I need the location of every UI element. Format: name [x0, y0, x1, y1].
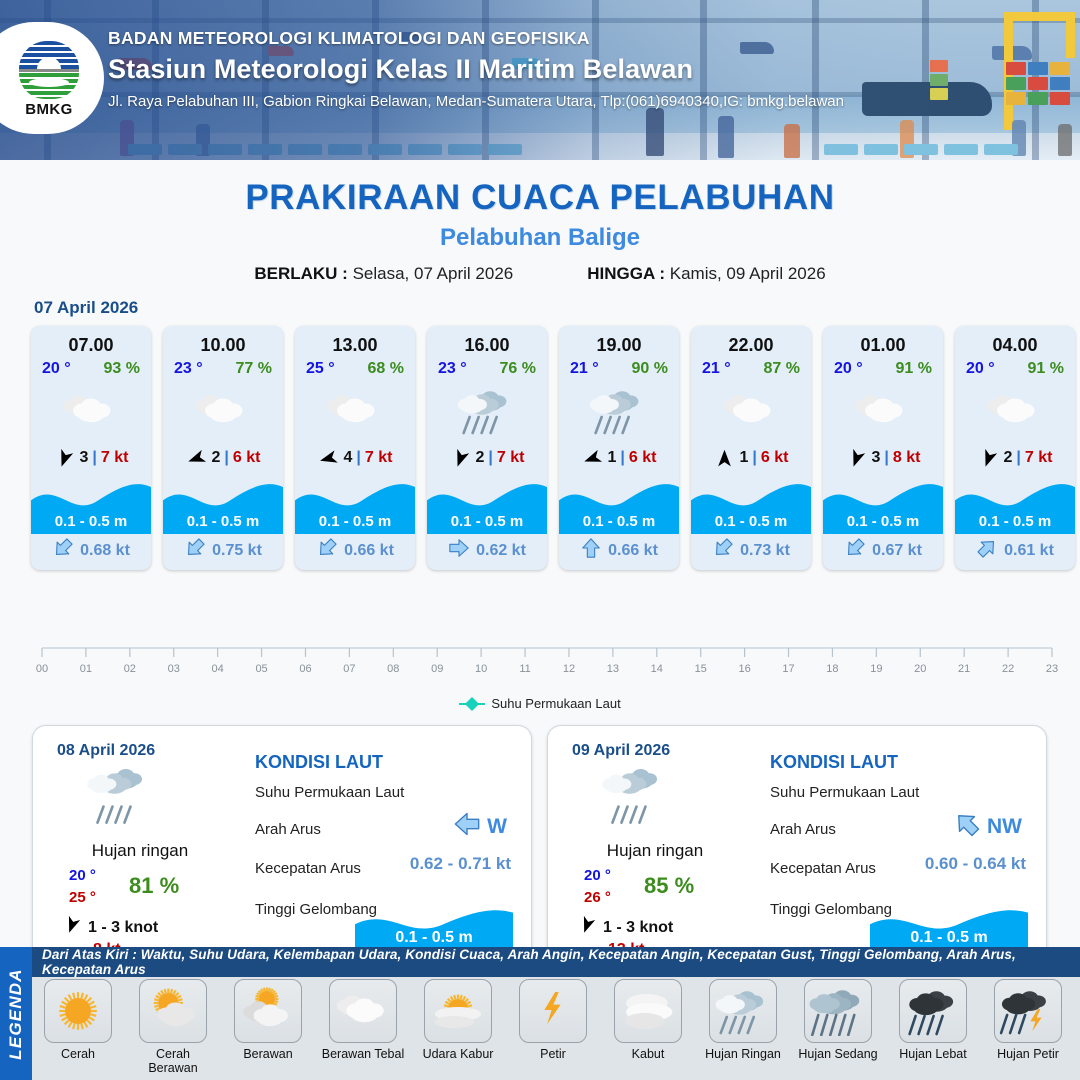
wind-speed-value: 2 — [1004, 449, 1013, 467]
svg-text:21: 21 — [958, 663, 970, 675]
legend-icon-cerah-berawan — [139, 979, 207, 1043]
bmkg-logo-text: BMKG — [25, 101, 72, 118]
svg-text:15: 15 — [695, 663, 707, 675]
legend-item: Hujan Petir — [986, 979, 1070, 1075]
legend-item: Hujan Lebat — [891, 979, 975, 1075]
weather-icon-hujan-ringan — [600, 762, 684, 839]
panel-condition: Hujan ringan — [45, 841, 235, 861]
valid-from: BERLAKU : Selasa, 07 April 2026 — [254, 264, 513, 284]
legend-note: Dari Atas Kiri : Waktu, Suhu Udara, Kele… — [32, 947, 1080, 977]
weather-icon-berawan — [955, 382, 1075, 440]
hourly-date-label: 07 April 2026 — [34, 298, 1080, 318]
weather-icon-berawan — [163, 382, 283, 440]
legend-icon-cerah — [44, 979, 112, 1043]
gust-value: 7 kt — [101, 449, 129, 467]
legend-item: Hujan Ringan — [701, 979, 785, 1075]
legend-item-label: Hujan Ringan — [705, 1047, 781, 1061]
current-speed: 0.62 kt — [476, 542, 526, 560]
panel-wind-range: 1 - 3 knot — [603, 919, 673, 937]
wind-direction-icon — [846, 448, 868, 468]
current-speed: 0.68 kt — [80, 542, 130, 560]
chart-legend: Suhu Permukaan Laut — [0, 696, 1080, 711]
valid-until-value: Kamis, 09 April 2026 — [670, 264, 826, 283]
card-time: 16.00 — [427, 326, 547, 356]
card-temperature: 20 ° — [42, 360, 71, 378]
validity-row: BERLAKU : Selasa, 07 April 2026 HINGGA :… — [0, 264, 1080, 284]
panel-current-direction: NW — [987, 815, 1022, 839]
wind-separator: | — [488, 449, 492, 467]
wave-height: 0.1 - 0.5 m — [691, 513, 811, 530]
current-speed: 0.61 kt — [1004, 542, 1054, 560]
wave-height: 0.1 - 0.5 m — [427, 513, 547, 530]
wind-direction-icon — [714, 448, 736, 468]
legend-icon-petir — [519, 979, 587, 1043]
svg-text:08: 08 — [387, 663, 399, 675]
label-current-speed: Kecepatan Arus — [770, 860, 876, 877]
card-humidity: 76 % — [500, 360, 536, 378]
gust-value: 8 kt — [893, 449, 921, 467]
legend-item-label: Udara Kabur — [423, 1047, 494, 1061]
weather-icon-berawan — [31, 382, 151, 440]
svg-text:09: 09 — [431, 663, 443, 675]
card-temperature: 25 ° — [306, 360, 335, 378]
wind-direction-icon — [318, 448, 340, 468]
panel-current-direction: W — [487, 815, 507, 839]
wind-direction-icon — [63, 916, 81, 939]
card-time: 13.00 — [295, 326, 415, 356]
svg-text:07: 07 — [343, 663, 355, 675]
wind-direction-icon — [450, 448, 472, 468]
gust-value: 7 kt — [497, 449, 525, 467]
port-name: Pelabuhan Balige — [0, 224, 1080, 252]
svg-text:17: 17 — [782, 663, 794, 675]
weather-icon-berawan — [295, 382, 415, 440]
legend-item-label: Hujan Lebat — [899, 1047, 966, 1061]
agency-name: BADAN METEOROLOGI KLIMATOLOGI DAN GEOFIS… — [108, 28, 844, 49]
legend-icon-udara-kabur — [424, 979, 492, 1043]
panel-wave-height: 0.1 - 0.5 m — [870, 929, 1028, 947]
wind-direction-icon — [54, 448, 76, 468]
panel-temp-min: 20 ° — [584, 867, 611, 884]
svg-text:01: 01 — [80, 663, 92, 675]
gust-value: 6 kt — [233, 449, 261, 467]
wind-separator: | — [620, 449, 624, 467]
svg-text:14: 14 — [651, 663, 663, 675]
wind-speed-value: 3 — [80, 449, 89, 467]
legend-icon-hujan-petir — [994, 979, 1062, 1043]
sea-condition-heading: KONDISI LAUT — [770, 752, 898, 773]
wind-speed-value: 1 — [740, 449, 749, 467]
wave-height: 0.1 - 0.5 m — [163, 513, 283, 530]
card-humidity: 93 % — [104, 360, 140, 378]
label-sst: Suhu Permukaan Laut — [255, 784, 404, 801]
wave-height: 0.1 - 0.5 m — [823, 513, 943, 530]
weather-icon-hujan-ringan — [427, 382, 547, 440]
card-time: 22.00 — [691, 326, 811, 356]
label-current-direction: Arah Arus — [770, 821, 836, 838]
card-humidity: 68 % — [368, 360, 404, 378]
wind-direction-icon — [578, 916, 596, 939]
legend-bar: LEGENDA Dari Atas Kiri : Waktu, Suhu Uda… — [0, 947, 1080, 1080]
card-temperature: 20 ° — [966, 360, 995, 378]
wind-separator: | — [752, 449, 756, 467]
current-direction-icon — [453, 810, 481, 843]
svg-text:11: 11 — [519, 663, 530, 675]
svg-text:06: 06 — [299, 663, 311, 675]
sst-chart: 0001020304050607080910111213141516171819… — [30, 622, 1062, 692]
legend-icon-berawan-sun — [234, 979, 302, 1043]
sea-condition-heading: KONDISI LAUT — [255, 752, 383, 773]
hourly-forecast-cards: 07.00 20 ° 93 % 3 | 7 kt 0.1 - 0.5 m — [31, 326, 1080, 570]
current-direction-icon — [976, 537, 998, 564]
panel-humidity: 81 % — [129, 873, 179, 899]
hourly-card: 10.00 23 ° 77 % 2 | 6 kt 0.1 - 0.5 m — [163, 326, 283, 570]
panel-wind-range: 1 - 3 knot — [88, 919, 158, 937]
svg-text:23: 23 — [1046, 663, 1058, 675]
svg-text:05: 05 — [255, 663, 267, 675]
current-speed: 0.75 kt — [212, 542, 262, 560]
svg-text:02: 02 — [124, 663, 136, 675]
valid-until-label: HINGGA : — [587, 264, 665, 283]
wind-direction-icon — [978, 448, 1000, 468]
legend-icon-hujan-ringan — [709, 979, 777, 1043]
legend-icon-hujan-sedang — [804, 979, 872, 1043]
svg-text:16: 16 — [738, 663, 750, 675]
wind-speed-value: 2 — [212, 449, 221, 467]
wind-separator: | — [1016, 449, 1020, 467]
current-direction-icon — [580, 537, 602, 564]
panel-temp-max: 25 ° — [69, 889, 96, 906]
panel-temp-max: 26 ° — [584, 889, 611, 906]
legend-item-label: Hujan Sedang — [798, 1047, 877, 1061]
wind-direction-icon — [582, 448, 604, 468]
current-direction-icon — [184, 537, 206, 564]
wave-height: 0.1 - 0.5 m — [31, 513, 151, 530]
legend-item: Cerah — [36, 979, 120, 1075]
legend-item-label: Petir — [540, 1047, 566, 1061]
panel-current-speed: 0.60 - 0.64 kt — [925, 854, 1026, 874]
legend-item: Cerah Berawan — [131, 979, 215, 1075]
sst-line-marker-icon — [459, 699, 485, 709]
legend-icon-hujan-lebat — [899, 979, 967, 1043]
card-humidity: 91 % — [896, 360, 932, 378]
gust-value: 6 kt — [761, 449, 789, 467]
current-speed: 0.67 kt — [872, 542, 922, 560]
legend-item-list: Cerah Cerah Berawan Berawan Berawan Teba… — [36, 979, 1076, 1075]
card-time: 04.00 — [955, 326, 1075, 356]
panel-current-speed: 0.62 - 0.71 kt — [410, 854, 511, 874]
legend-icon-berawan-tebal — [329, 979, 397, 1043]
legend-item: Kabut — [606, 979, 690, 1075]
card-humidity: 91 % — [1028, 360, 1064, 378]
card-temperature: 20 ° — [834, 360, 863, 378]
legend-item: Berawan Tebal — [321, 979, 405, 1075]
card-time: 10.00 — [163, 326, 283, 356]
wind-speed-value: 1 — [608, 449, 617, 467]
hourly-card: 22.00 21 ° 87 % 1 | 6 kt 0.1 - 0.5 m — [691, 326, 811, 570]
station-name: Stasiun Meteorologi Kelas II Maritim Bel… — [108, 54, 844, 85]
card-time: 01.00 — [823, 326, 943, 356]
wave-height: 0.1 - 0.5 m — [295, 513, 415, 530]
card-temperature: 21 ° — [702, 360, 731, 378]
legend-item-label: Kabut — [632, 1047, 665, 1061]
svg-text:22: 22 — [1002, 663, 1014, 675]
legend-item: Udara Kabur — [416, 979, 500, 1075]
current-speed: 0.66 kt — [344, 542, 394, 560]
label-current-speed: Kecepatan Arus — [255, 860, 361, 877]
wind-separator: | — [92, 449, 96, 467]
gust-value: 6 kt — [629, 449, 657, 467]
hourly-card: 04.00 20 ° 91 % 2 | 7 kt 0.1 - 0.5 m — [955, 326, 1075, 570]
hourly-card: 07.00 20 ° 93 % 3 | 7 kt 0.1 - 0.5 m — [31, 326, 151, 570]
card-temperature: 21 ° — [570, 360, 599, 378]
panel-temp-min: 20 ° — [69, 867, 96, 884]
card-humidity: 90 % — [632, 360, 668, 378]
valid-from-label: BERLAKU : — [254, 264, 348, 283]
svg-text:10: 10 — [475, 663, 487, 675]
hourly-card: 13.00 25 ° 68 % 4 | 7 kt 0.1 - 0.5 m — [295, 326, 415, 570]
current-direction-icon — [953, 810, 981, 843]
card-time: 07.00 — [31, 326, 151, 356]
legend-item-label: Berawan Tebal — [322, 1047, 404, 1061]
sst-chart-svg: 0001020304050607080910111213141516171819… — [30, 622, 1062, 692]
card-temperature: 23 ° — [438, 360, 467, 378]
valid-until: HINGGA : Kamis, 09 April 2026 — [587, 264, 825, 284]
legend-item-label: Cerah — [61, 1047, 95, 1061]
current-direction-icon — [712, 537, 734, 564]
legend-icon-kabut — [614, 979, 682, 1043]
hourly-card: 16.00 23 ° 76 % 2 | 7 kt 0.1 - — [427, 326, 547, 570]
current-speed: 0.73 kt — [740, 542, 790, 560]
wave-height: 0.1 - 0.5 m — [559, 513, 679, 530]
legend-item-label: Hujan Petir — [997, 1047, 1059, 1061]
card-time: 19.00 — [559, 326, 679, 356]
label-sst: Suhu Permukaan Laut — [770, 784, 919, 801]
chart-legend-label: Suhu Permukaan Laut — [491, 696, 620, 711]
weather-icon-hujan-ringan — [559, 382, 679, 440]
wind-speed-value: 4 — [344, 449, 353, 467]
legend-item: Hujan Sedang — [796, 979, 880, 1075]
wind-direction-icon — [186, 448, 208, 468]
card-humidity: 77 % — [236, 360, 272, 378]
weather-icon-hujan-ringan — [85, 762, 169, 839]
svg-text:20: 20 — [914, 663, 926, 675]
station-address: Jl. Raya Pelabuhan III, Gabion Ringkai B… — [108, 93, 844, 110]
wind-speed-value: 3 — [872, 449, 881, 467]
label-current-direction: Arah Arus — [255, 821, 321, 838]
legend-item: Berawan — [226, 979, 310, 1075]
valid-from-value: Selasa, 07 April 2026 — [353, 264, 514, 283]
svg-text:12: 12 — [563, 663, 575, 675]
svg-text:18: 18 — [826, 663, 838, 675]
weather-icon-berawan — [823, 382, 943, 440]
wind-speed-value: 2 — [476, 449, 485, 467]
daily-forecast-panels: 08 April 2026 Hujan ringan 20 ° 25 ° 81 … — [32, 725, 1080, 970]
legend-item-label: Berawan — [243, 1047, 292, 1061]
svg-text:19: 19 — [870, 663, 882, 675]
daily-forecast-panel: 09 April 2026 Hujan ringan 20 ° 26 ° 85 … — [547, 725, 1047, 970]
page-header: BMKG BADAN METEOROLOGI KLIMATOLOGI DAN G… — [0, 0, 1080, 160]
svg-text:13: 13 — [607, 663, 619, 675]
wind-separator: | — [884, 449, 888, 467]
panel-wave-height: 0.1 - 0.5 m — [355, 929, 513, 947]
current-speed: 0.66 kt — [608, 542, 658, 560]
panel-condition: Hujan ringan — [560, 841, 750, 861]
panel-date: 09 April 2026 — [572, 742, 670, 760]
card-humidity: 87 % — [764, 360, 800, 378]
hourly-card: 01.00 20 ° 91 % 3 | 8 kt 0.1 - 0.5 m — [823, 326, 943, 570]
current-direction-icon — [316, 537, 338, 564]
panel-humidity: 85 % — [644, 873, 694, 899]
legend-item-label: Cerah Berawan — [131, 1047, 215, 1075]
legend-item: Petir — [511, 979, 595, 1075]
panel-date: 08 April 2026 — [57, 742, 155, 760]
wave-height: 0.1 - 0.5 m — [955, 513, 1075, 530]
wind-separator: | — [356, 449, 360, 467]
legend-side-title-text: LEGENDA — [6, 968, 26, 1060]
current-direction-icon — [52, 537, 74, 564]
svg-text:00: 00 — [36, 663, 48, 675]
daily-forecast-panel: 08 April 2026 Hujan ringan 20 ° 25 ° 81 … — [32, 725, 532, 970]
page-title: PRAKIRAAN CUACA PELABUHAN — [0, 178, 1080, 218]
wind-separator: | — [224, 449, 228, 467]
gust-value: 7 kt — [1025, 449, 1053, 467]
legend-side-title: LEGENDA — [0, 947, 32, 1080]
card-temperature: 23 ° — [174, 360, 203, 378]
svg-text:03: 03 — [168, 663, 180, 675]
weather-icon-berawan — [691, 382, 811, 440]
bmkg-logo-icon — [19, 39, 79, 99]
current-direction-icon — [448, 537, 470, 564]
hourly-card: 19.00 21 ° 90 % 1 | 6 kt 0.1 - — [559, 326, 679, 570]
current-direction-icon — [844, 537, 866, 564]
svg-text:04: 04 — [212, 663, 224, 675]
gust-value: 7 kt — [365, 449, 393, 467]
